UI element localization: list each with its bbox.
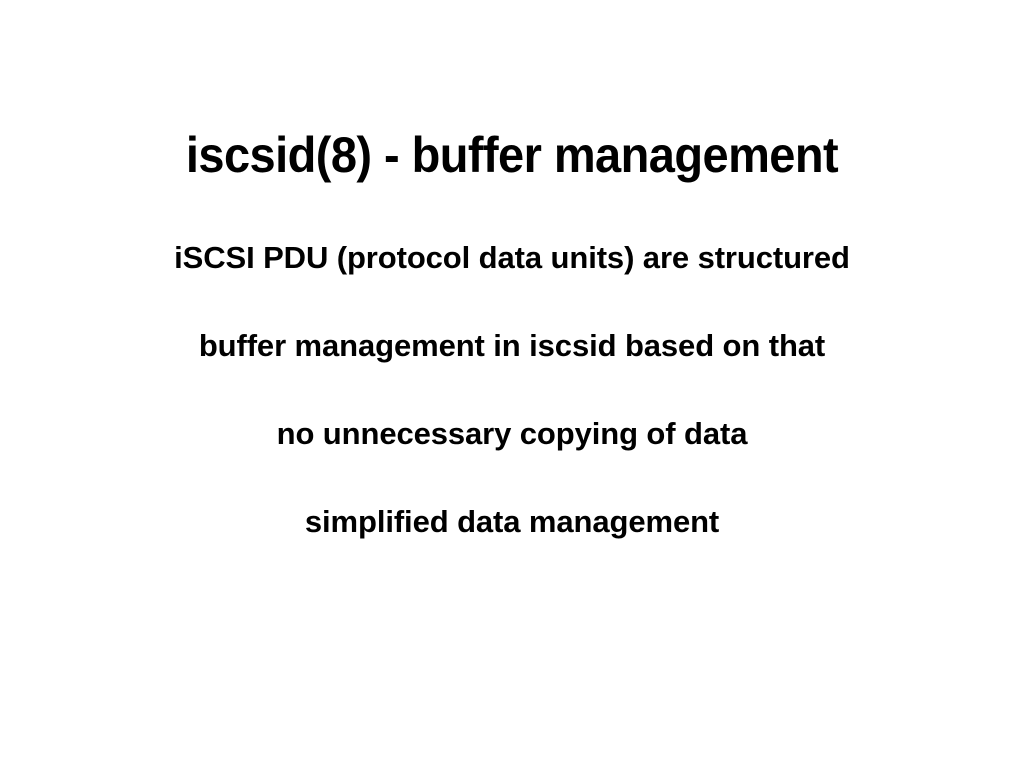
slide-body: iSCSI PDU (protocol data units) are stru… xyxy=(0,214,1024,566)
slide-body-line-1: iSCSI PDU (protocol data units) are stru… xyxy=(0,214,1024,302)
presentation-slide: iscsid(8) - buffer management iSCSI PDU … xyxy=(0,0,1024,768)
slide-body-line-4: simplified data management xyxy=(0,478,1024,566)
slide-body-line-2: buffer management in iscsid based on tha… xyxy=(0,302,1024,390)
slide-title: iscsid(8) - buffer management xyxy=(31,126,994,184)
slide-body-line-3: no unnecessary copying of data xyxy=(0,390,1024,478)
